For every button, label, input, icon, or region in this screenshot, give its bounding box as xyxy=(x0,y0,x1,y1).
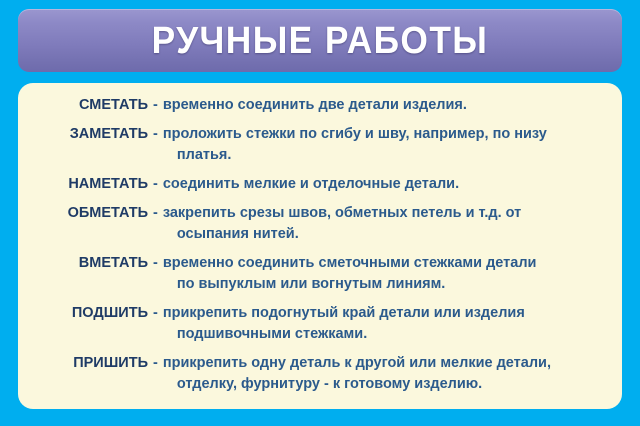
list-item: ПРИШИТЬ - прикрепить одну деталь к друго… xyxy=(26,353,614,395)
definition-line-1: прикрепить одну деталь к другой или мелк… xyxy=(163,353,614,374)
definition-line-2: отделку, фурнитуру - к готовому изделию. xyxy=(163,374,614,395)
term-label: ВМЕТАТЬ xyxy=(26,253,148,274)
separator-dash: - xyxy=(148,124,163,145)
separator-dash: - xyxy=(148,303,163,324)
definition-line-1: прикрепить подогнутый край детали или из… xyxy=(163,303,614,324)
list-item: ВМЕТАТЬ - временно соединить сметочными … xyxy=(26,253,614,295)
definition-text: проложить стежки по сгибу и шву, наприме… xyxy=(163,124,614,166)
content-panel: СМЕТАТЬ - временно соединить две детали … xyxy=(18,83,622,409)
definition-line-1: закрепить срезы швов, обметных петель и … xyxy=(163,203,614,224)
definition-line-1: временно соединить сметочными стежками д… xyxy=(163,253,614,274)
title-banner: РУЧНЫЕ РАБОТЫ xyxy=(18,9,622,72)
list-item: ПОДШИТЬ - прикрепить подогнутый край дет… xyxy=(26,303,614,345)
definition-text: временно соединить две детали изделия. xyxy=(163,95,614,116)
term-label: ПОДШИТЬ xyxy=(26,303,148,324)
definition-line-1: соединить мелкие и отделочные детали. xyxy=(163,174,614,195)
definition-text: соединить мелкие и отделочные детали. xyxy=(163,174,614,195)
definition-line-2: осыпания нитей. xyxy=(163,224,614,245)
definition-text: прикрепить одну деталь к другой или мелк… xyxy=(163,353,614,395)
definition-line-1: временно соединить две детали изделия. xyxy=(163,95,614,116)
definition-line-2: платья. xyxy=(163,145,614,166)
definition-list: СМЕТАТЬ - временно соединить две детали … xyxy=(26,95,614,395)
definition-text: временно соединить сметочными стежками д… xyxy=(163,253,614,295)
term-label: ЗАМЕТАТЬ xyxy=(26,124,148,145)
definition-line-2: по выпуклым или вогнутым линиям. xyxy=(163,274,614,295)
term-label: ОБМЕТАТЬ xyxy=(26,203,148,224)
definition-text: прикрепить подогнутый край детали или из… xyxy=(163,303,614,345)
separator-dash: - xyxy=(148,95,163,116)
definition-line-2: подшивочными стежками. xyxy=(163,324,614,345)
separator-dash: - xyxy=(148,203,163,224)
term-label: СМЕТАТЬ xyxy=(26,95,148,116)
page-title: РУЧНЫЕ РАБОТЫ xyxy=(152,22,489,60)
separator-dash: - xyxy=(148,253,163,274)
list-item: ОБМЕТАТЬ - закрепить срезы швов, обметны… xyxy=(26,203,614,245)
separator-dash: - xyxy=(148,353,163,374)
term-label: НАМЕТАТЬ xyxy=(26,174,148,195)
definition-text: закрепить срезы швов, обметных петель и … xyxy=(163,203,614,245)
list-item: СМЕТАТЬ - временно соединить две детали … xyxy=(26,95,614,116)
definition-line-1: проложить стежки по сгибу и шву, наприме… xyxy=(163,124,614,145)
list-item: НАМЕТАТЬ - соединить мелкие и отделочные… xyxy=(26,174,614,195)
poster-root: РУЧНЫЕ РАБОТЫ СМЕТАТЬ - временно соедини… xyxy=(0,0,640,426)
separator-dash: - xyxy=(148,174,163,195)
term-label: ПРИШИТЬ xyxy=(26,353,148,374)
list-item: ЗАМЕТАТЬ - проложить стежки по сгибу и ш… xyxy=(26,124,614,166)
